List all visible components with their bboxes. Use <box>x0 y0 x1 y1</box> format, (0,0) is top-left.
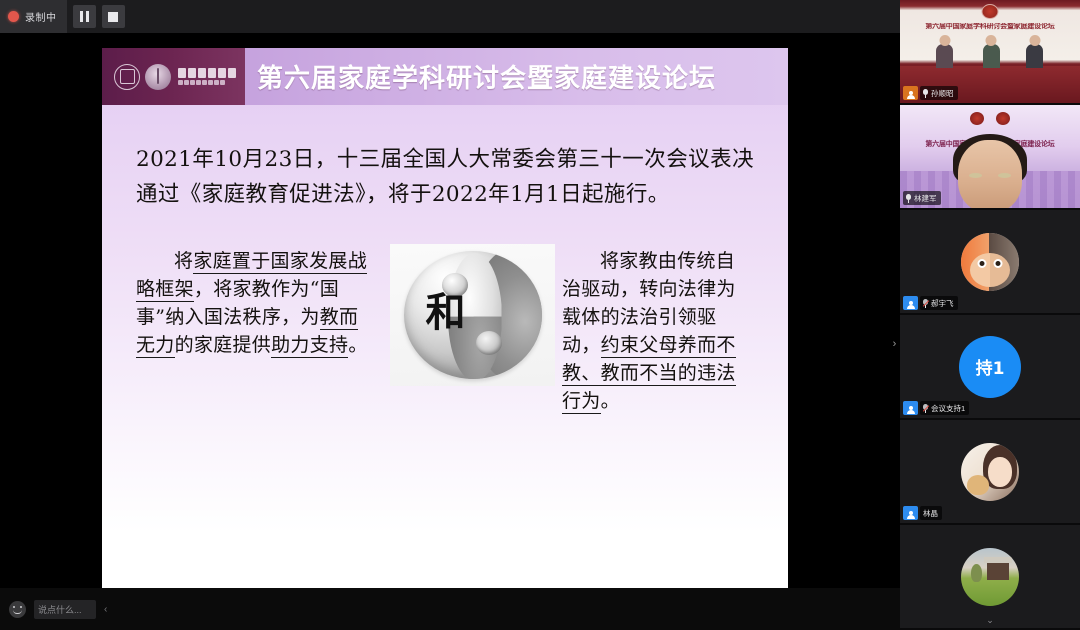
participant-tile[interactable]: 第六届中国家庭学科研讨会暨家庭建设论坛 孙顺昭 <box>900 0 1080 105</box>
participant-tile[interactable]: ⌄ <box>900 525 1080 630</box>
yinyang-harmony-image: 和 <box>390 244 555 386</box>
pause-recording-button[interactable] <box>73 5 96 28</box>
slide-header: 第六届家庭学科研讨会暨家庭建设论坛 <box>102 48 788 105</box>
conference-emblem-icon <box>982 4 999 19</box>
pause-icon <box>80 11 89 22</box>
participant-rail[interactable]: 第六届中国家庭学科研讨会暨家庭建设论坛 孙顺昭 第六届中国家庭学科研讨 <box>900 0 1080 630</box>
participant-tile[interactable]: 林晶 <box>900 420 1080 525</box>
slide-main-paragraph: 2021年10月23日，十三届全国人大常委会第三十一次会议表决通过《家庭教育促进… <box>136 143 754 213</box>
participant-name-chip: 林晶 <box>920 506 942 520</box>
avatar-pet <box>967 475 989 495</box>
tile-badges: 林建军 <box>903 191 941 205</box>
right-seg-3: 。 <box>601 390 620 412</box>
tile-badges: 孙顺昭 <box>903 86 958 100</box>
host-badge-icon <box>903 296 918 310</box>
meeting-window: 录制中 第六届家庭学科研讨会暨家庭建设论坛 <box>0 0 1080 630</box>
participant-name-chip: 会议支持1 <box>920 401 969 415</box>
chevron-right-icon: › <box>893 338 897 350</box>
avatar: 持1 <box>959 336 1021 398</box>
yinyang-disc <box>404 251 542 379</box>
recording-label: 录制中 <box>25 9 57 24</box>
mic-icon <box>906 194 911 203</box>
avatar-scene-tree <box>971 564 982 582</box>
left-seg-1: 将 <box>174 250 193 272</box>
host-badge-icon <box>903 506 918 520</box>
participant-name: 孙顺昭 <box>931 88 954 99</box>
tile-badges: 林晶 <box>903 506 942 520</box>
avatar-scene-building <box>987 562 1009 580</box>
speaker-eye <box>998 173 1011 178</box>
tile-badges: 郝宇飞 <box>903 296 958 310</box>
avatar-face <box>988 457 1012 487</box>
collapse-panel-handle[interactable]: › <box>889 321 900 367</box>
participant-name: 林晶 <box>923 508 938 519</box>
forum-emblems-icon <box>970 112 1010 125</box>
harmony-character: 和 <box>426 293 466 333</box>
panelist-figure <box>983 44 1000 68</box>
yinyang-dot-lower <box>476 331 502 355</box>
slide-right-column: 将家教由传统自治驱动，转向法律为载体的法治引领驱动，约束父母养而不教、教而不当的… <box>562 247 754 416</box>
slide-left-column: 将家庭置于国家发展战略框架，将家教作为“国事”纳入国法秩序，为教而无力的家庭提供… <box>136 247 374 359</box>
participant-tile[interactable]: 持1 会议支持1 <box>900 315 1080 420</box>
chevron-down-icon[interactable]: ⌄ <box>986 615 994 626</box>
left-seg-7: 。 <box>348 334 367 356</box>
participant-tile[interactable]: 郝宇飞 <box>900 210 1080 315</box>
slide-body: 2021年10月23日，十三届全国人大常委会第三十一次会议表决通过《家庭教育促进… <box>102 143 788 417</box>
left-seg-5: 的家庭提供 <box>175 334 272 356</box>
participant-name-chip: 林建军 <box>903 191 941 205</box>
host-badge-icon <box>903 86 918 100</box>
chevron-left-icon[interactable]: ‹ <box>104 604 107 615</box>
avatar <box>961 548 1019 606</box>
participant-name-chip: 孙顺昭 <box>920 86 958 100</box>
chat-input-placeholder: 说点什么... <box>38 603 82 616</box>
slide-columns: 将家庭置于国家发展战略框架，将家教作为“国事”纳入国法秩序，为教而无力的家庭提供… <box>136 247 754 417</box>
avatar <box>961 233 1019 291</box>
institution-wordmark-icon <box>176 68 236 85</box>
participant-tile[interactable]: 第六届中国家庭学科研讨会暨家庭建设论坛 林建军 <box>900 105 1080 210</box>
panelist-figure <box>936 44 953 68</box>
cartoon-eyes <box>978 259 1003 268</box>
chat-input[interactable]: 说点什么... <box>34 600 96 619</box>
participant-name: 会议支持1 <box>931 403 965 414</box>
participant-name-chip: 郝宇飞 <box>920 296 958 310</box>
mic-icon <box>923 89 928 98</box>
slide-header-logos <box>102 48 245 105</box>
speaker-face <box>958 140 1022 210</box>
recording-status: 录制中 <box>0 0 67 33</box>
host-badge-icon <box>903 401 918 415</box>
emoji-icon[interactable] <box>9 601 26 618</box>
chat-bar: 说点什么... ‹ <box>0 588 900 630</box>
mic-muted-icon <box>923 404 928 413</box>
mic-muted-icon <box>923 299 928 308</box>
presentation-slide: 第六届家庭学科研讨会暨家庭建设论坛 2021年10月23日，十三届全国人大常委会… <box>102 48 788 599</box>
institution-emblem-logo-icon <box>145 64 171 90</box>
stop-icon <box>108 12 118 22</box>
tile-badges: 会议支持1 <box>903 401 969 415</box>
avatar <box>961 443 1019 501</box>
participant-name: 郝宇飞 <box>931 298 954 309</box>
institution-seal-logo-icon <box>114 64 140 90</box>
left-seg-6-underlined: 助力支持 <box>271 334 348 358</box>
stop-recording-button[interactable] <box>102 5 125 28</box>
shared-screen-stage: 第六届家庭学科研讨会暨家庭建设论坛 2021年10月23日，十三届全国人大常委会… <box>0 33 900 630</box>
recording-dot-icon <box>8 11 19 22</box>
recording-toolbar: 录制中 <box>0 0 900 33</box>
yinyang-graphic: 和 <box>404 249 542 381</box>
panelist-figure <box>1026 44 1043 68</box>
speaker-eye <box>969 173 982 178</box>
slide-title: 第六届家庭学科研讨会暨家庭建设论坛 <box>245 58 716 95</box>
participant-name: 林建军 <box>914 193 937 204</box>
